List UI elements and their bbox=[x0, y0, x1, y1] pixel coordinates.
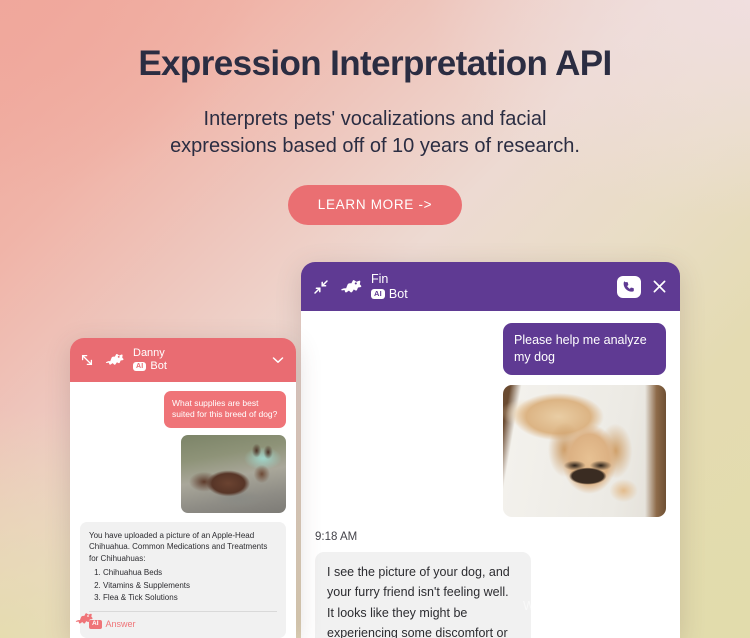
dog-logo-icon bbox=[104, 351, 125, 369]
bot-intro-text: You have uploaded a picture of an Apple-… bbox=[89, 530, 277, 564]
list-item: Flea & Tick Solutions bbox=[103, 592, 277, 603]
bot-badge-row-danny: AI Bot bbox=[133, 360, 167, 372]
message-image-dog bbox=[503, 385, 666, 517]
chat-header-fin: Fin AI Bot bbox=[301, 262, 680, 311]
hero-subtitle: Interprets pets' vocalizations and facia… bbox=[160, 106, 590, 160]
chat-body-fin: What questi Please help me analyze my do… bbox=[301, 311, 680, 638]
chat-body-danny: What supplies are best suited for this b… bbox=[70, 382, 296, 638]
brand-text-fin: Fin AI Bot bbox=[371, 272, 408, 301]
answer-label[interactable]: Answer bbox=[106, 618, 136, 631]
chat-widget-fin: Fin AI Bot What questi Pl bbox=[301, 262, 680, 638]
list-item: Chihuahua Beds bbox=[103, 567, 277, 578]
message-bubble-bot: You have uploaded a picture of an Apple-… bbox=[80, 522, 286, 638]
page-root: Expression Interpretation API Interprets… bbox=[0, 0, 750, 638]
bot-name-fin: Fin bbox=[371, 272, 408, 286]
cta-wrapper: LEARN MORE -> bbox=[0, 185, 750, 225]
dog-logo-icon bbox=[339, 277, 363, 297]
close-icon[interactable] bbox=[651, 278, 668, 295]
expand-arrow-icon[interactable] bbox=[80, 353, 94, 367]
hero-section: Expression Interpretation API Interprets… bbox=[0, 0, 750, 225]
divider bbox=[89, 611, 277, 612]
learn-more-button[interactable]: LEARN MORE -> bbox=[288, 185, 463, 225]
message-image-dog bbox=[181, 435, 286, 514]
chat-header-danny: Danny AI Bot bbox=[70, 338, 296, 382]
brand-danny: Danny AI Bot bbox=[104, 347, 260, 373]
page-title: Expression Interpretation API bbox=[0, 44, 750, 84]
ai-badge-danny: AI bbox=[133, 362, 146, 371]
answer-row: AI Answer bbox=[89, 618, 277, 631]
bot-recommendation-list: Chihuahua Beds Vitamins & Supplements Fl… bbox=[103, 567, 277, 603]
bot-subtitle-danny: Bot bbox=[150, 360, 167, 372]
collapse-arrows-icon[interactable] bbox=[313, 279, 329, 295]
ai-badge-fin: AI bbox=[371, 289, 385, 299]
phone-icon[interactable] bbox=[617, 276, 641, 298]
brand-text-danny: Danny AI Bot bbox=[133, 347, 167, 373]
chat-widget-danny: Danny AI Bot What supplies are best suit… bbox=[70, 338, 296, 638]
dog-avatar-icon bbox=[74, 610, 94, 630]
message-bubble-user: What supplies are best suited for this b… bbox=[164, 391, 286, 428]
ghost-placeholder-text: What questi bbox=[523, 596, 653, 616]
bot-badge-row-fin: AI Bot bbox=[371, 287, 408, 301]
message-bubble-bot: I see the picture of your dog, and your … bbox=[315, 552, 531, 638]
bot-subtitle-fin: Bot bbox=[389, 287, 408, 301]
list-item: Vitamins & Supplements bbox=[103, 580, 277, 591]
message-timestamp: 9:18 AM bbox=[315, 531, 666, 543]
bot-name-danny: Danny bbox=[133, 347, 167, 359]
message-bubble-user: Please help me analyze my dog bbox=[503, 323, 666, 375]
brand-fin: Fin AI Bot bbox=[339, 272, 607, 301]
chevron-down-icon[interactable] bbox=[270, 352, 286, 368]
